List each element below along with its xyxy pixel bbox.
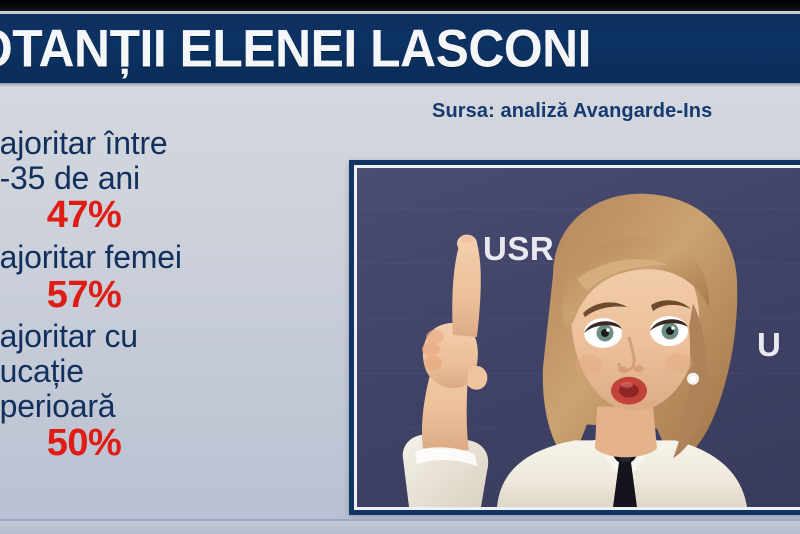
stat-label: najoritar între 8-35 de ani — [0, 126, 282, 195]
bottom-band — [0, 521, 800, 534]
stat-item: najoritar între 8-35 de ani 47% — [0, 126, 282, 236]
photo-inner-border: USR. U — [354, 165, 800, 510]
stat-value: 57% — [0, 276, 282, 316]
stat-item: najoritar cu ducație uperioară 50% — [0, 319, 282, 464]
person-illustration — [357, 168, 800, 507]
title-bar: OTANȚII ELENEI LASCONI — [0, 14, 800, 83]
page-title: OTANȚII ELENEI LASCONI — [0, 22, 630, 75]
letterbox-band — [0, 0, 800, 11]
title-bar-shadow — [0, 83, 800, 87]
stat-item: najoritar femei 57% — [0, 240, 282, 315]
stats-column: najoritar între 8-35 de ani 47% najorita… — [0, 126, 282, 467]
broadcast-graphic: OTANȚII ELENEI LASCONI Sursa: analiză Av… — [0, 0, 800, 534]
photo-frame: USR. U — [349, 160, 800, 515]
stat-label: najoritar cu ducație uperioară — [0, 319, 282, 423]
source-attribution: Sursa: analiză Avangarde-Ins — [432, 100, 712, 123]
stat-value: 50% — [0, 424, 282, 464]
stat-value: 47% — [0, 196, 282, 236]
stat-label: najoritar femei — [0, 240, 282, 275]
photo: USR. U — [357, 168, 800, 507]
page-title-text: OTANȚII ELENEI LASCONI — [0, 22, 591, 75]
